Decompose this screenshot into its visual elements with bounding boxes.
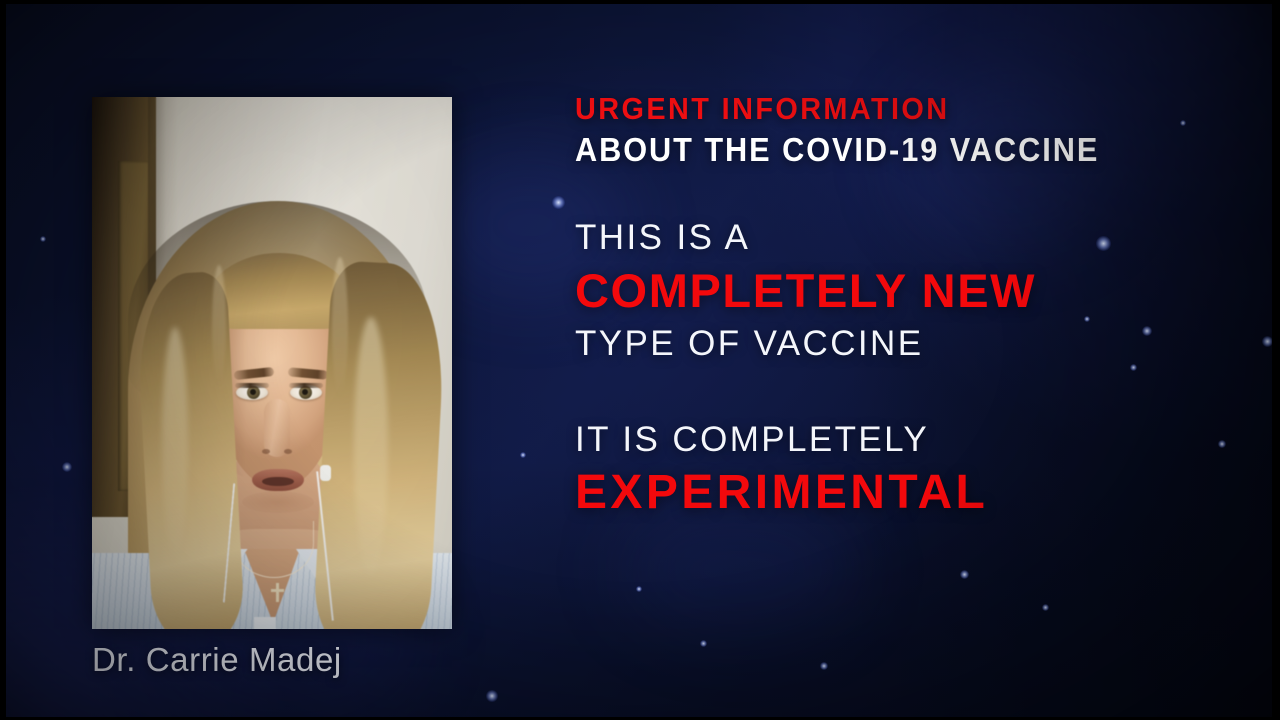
letterbox-bar-right bbox=[1272, 0, 1280, 720]
letterbox-bar-left bbox=[0, 0, 6, 720]
broadcast-lower-third-graphic: Dr. Carrie Madej URGENT INFORMATION ABOU… bbox=[0, 0, 1280, 720]
vignette-overlay bbox=[0, 0, 1280, 720]
letterbox-bar-top bbox=[0, 0, 1280, 4]
